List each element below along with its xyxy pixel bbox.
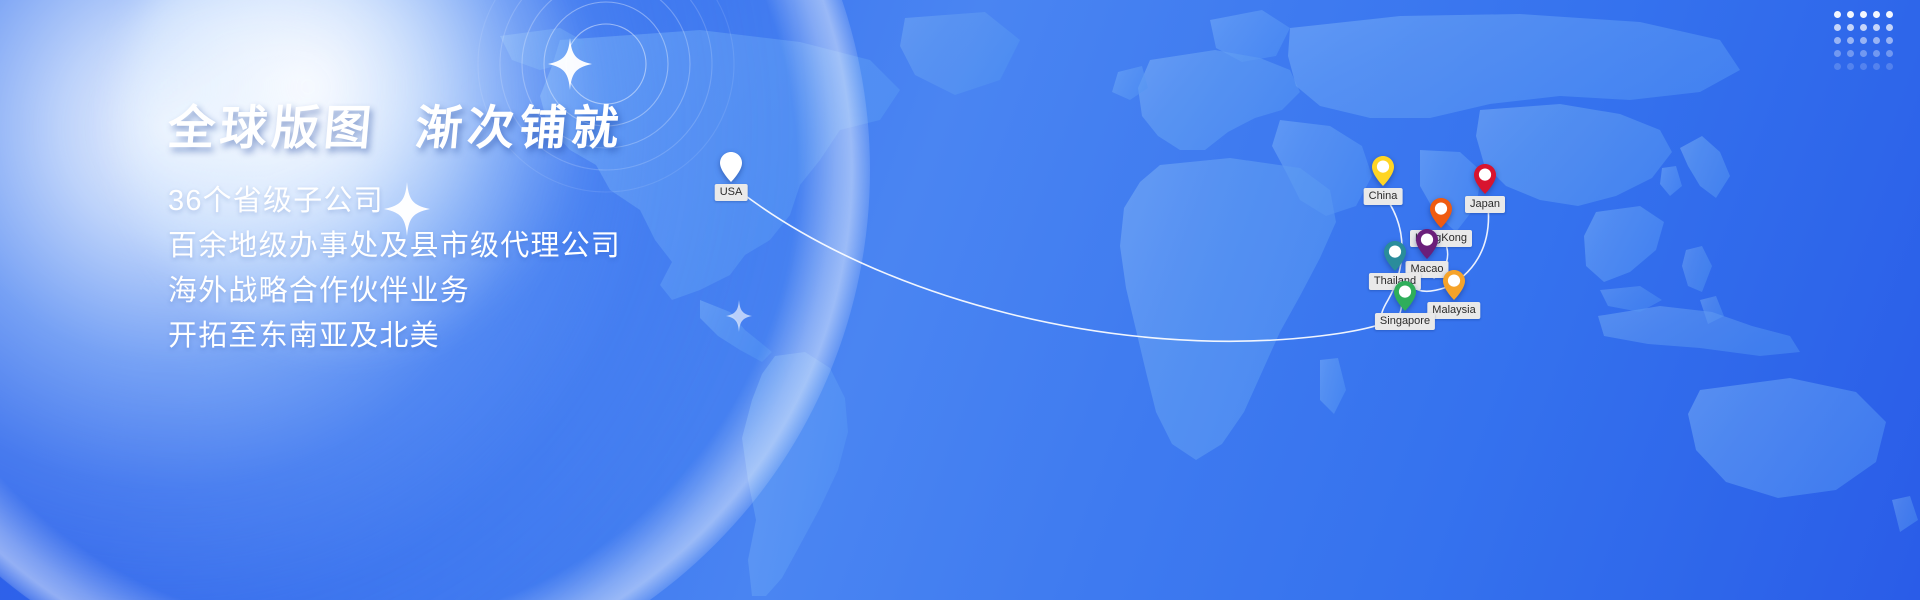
- location-pin-icon: [1474, 164, 1496, 194]
- map-marker-label-malaysia: Malaysia: [1427, 302, 1480, 319]
- global-map-banner: 全球版图 渐次铺就 36个省级子公司 百余地级办事处及县市级代理公司 海外战略合…: [0, 0, 1920, 600]
- map-marker-hongkong[interactable]: HongKong: [1430, 198, 1452, 228]
- subtitle-list: 36个省级子公司 百余地级办事处及县市级代理公司 海外战略合作伙伴业务 开拓至东…: [168, 179, 888, 359]
- map-marker-label-usa: USA: [715, 184, 748, 201]
- map-marker-thailand[interactable]: Thailand: [1384, 241, 1406, 271]
- location-pin-icon: [1384, 241, 1406, 271]
- location-pin-icon: [720, 152, 742, 182]
- banner-text-block: 全球版图 渐次铺就 36个省级子公司 百余地级办事处及县市级代理公司 海外战略合…: [168, 100, 888, 359]
- subtitle-line-4: 开拓至东南亚及北美: [168, 314, 888, 359]
- subtitle-line-3: 海外战略合作伙伴业务: [168, 269, 888, 314]
- map-marker-japan[interactable]: Japan: [1474, 164, 1496, 194]
- map-marker-label-japan: Japan: [1465, 196, 1505, 213]
- page-title: 全球版图 渐次铺就: [165, 100, 890, 157]
- subtitle-line-1: 36个省级子公司: [168, 179, 888, 224]
- location-pin-icon: [1372, 156, 1394, 186]
- subtitle-line-2: 百余地级办事处及县市级代理公司: [168, 224, 888, 269]
- map-marker-usa[interactable]: USA: [720, 152, 742, 182]
- location-pin-icon: [1394, 281, 1416, 311]
- location-pin-icon: [1416, 229, 1438, 259]
- map-marker-malaysia[interactable]: Malaysia: [1443, 270, 1465, 300]
- location-pin-icon: [1443, 270, 1465, 300]
- map-marker-label-singapore: Singapore: [1375, 313, 1435, 330]
- map-marker-label-china: China: [1364, 188, 1403, 205]
- map-marker-china[interactable]: China: [1372, 156, 1394, 186]
- map-marker-macao[interactable]: Macao: [1416, 229, 1438, 259]
- location-pin-icon: [1430, 198, 1452, 228]
- map-marker-singapore[interactable]: Singapore: [1394, 281, 1416, 311]
